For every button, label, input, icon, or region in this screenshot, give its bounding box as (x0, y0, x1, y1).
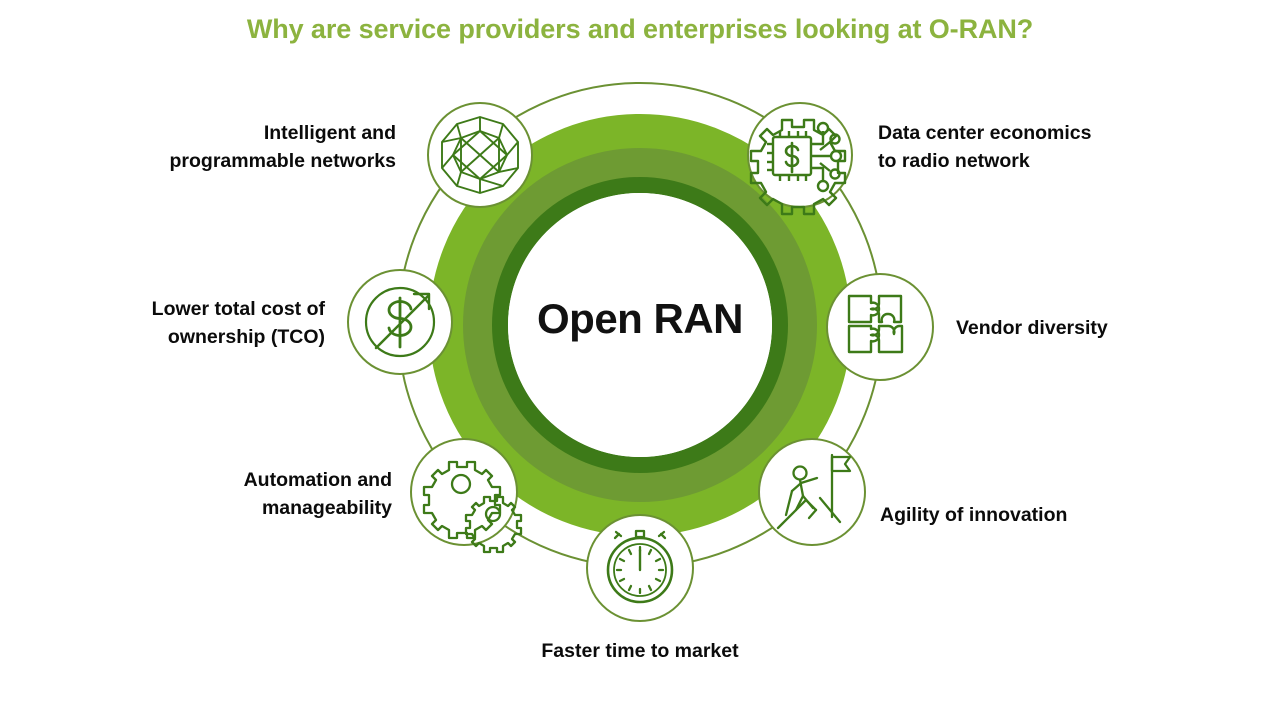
oran-radial-diagram: Open RAN Intelligent and programmable ne… (0, 0, 1280, 720)
label-automation-manageability: Automation and manageability (162, 467, 392, 522)
label-intelligent-networks: Intelligent and programmable networks (116, 120, 396, 175)
label-lower-tco: Lower total cost of ownership (TCO) (95, 296, 325, 351)
node-vendor-diversity[interactable] (827, 274, 933, 380)
node-agility-of-innovation[interactable] (759, 439, 865, 545)
node-faster-time-to-market[interactable] (587, 515, 693, 621)
label-faster-time-to-market: Faster time to market (500, 638, 780, 666)
label-data-center-economics: Data center economics to radio network (878, 120, 1178, 175)
icon-bubble-data-center-economics (748, 103, 852, 207)
icon-bubble-agility-of-innovation (759, 439, 865, 545)
node-lower-tco[interactable] (348, 270, 452, 374)
center-label: Open RAN (440, 295, 840, 343)
node-intelligent-networks[interactable] (428, 103, 532, 207)
diagram-canvas (0, 0, 1280, 720)
label-vendor-diversity: Vendor diversity (956, 315, 1216, 343)
label-agility-of-innovation: Agility of innovation (880, 502, 1140, 530)
network-mesh-sphere-icon (442, 117, 518, 193)
